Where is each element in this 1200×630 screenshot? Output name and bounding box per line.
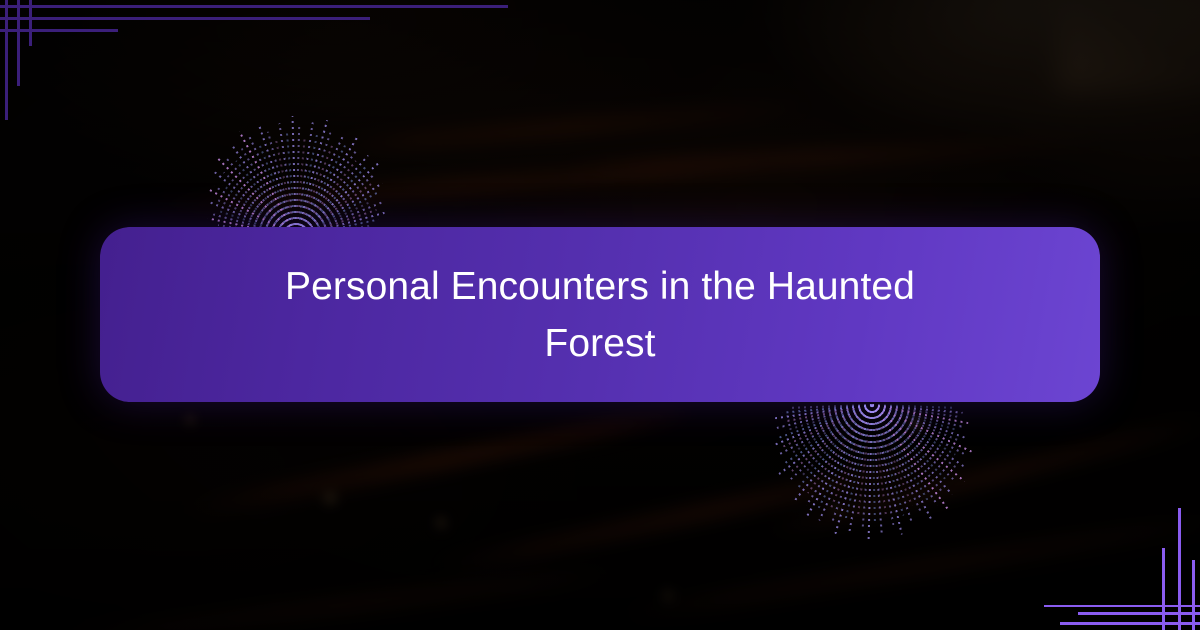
page-title: Personal Encounters in the Haunted Fores… xyxy=(250,258,950,372)
bracket-line-v-short xyxy=(29,0,32,46)
bracket-line-v-outer xyxy=(5,0,8,120)
bracket-line-h-outer xyxy=(0,5,508,8)
bracket-line-h-inner xyxy=(0,17,370,20)
bracket-line-v-short xyxy=(1162,548,1165,630)
bracket-line-v-inner xyxy=(17,0,20,86)
bracket-line-v-outer xyxy=(1192,560,1195,630)
bracket-line-h-long xyxy=(1044,605,1200,607)
title-card: Personal Encounters in the Haunted Fores… xyxy=(100,227,1100,402)
share-card-image: Personal Encounters in the Haunted Fores… xyxy=(0,0,1200,630)
bracket-line-h-inner xyxy=(1078,612,1200,615)
bracket-line-v-inner xyxy=(1178,508,1181,630)
